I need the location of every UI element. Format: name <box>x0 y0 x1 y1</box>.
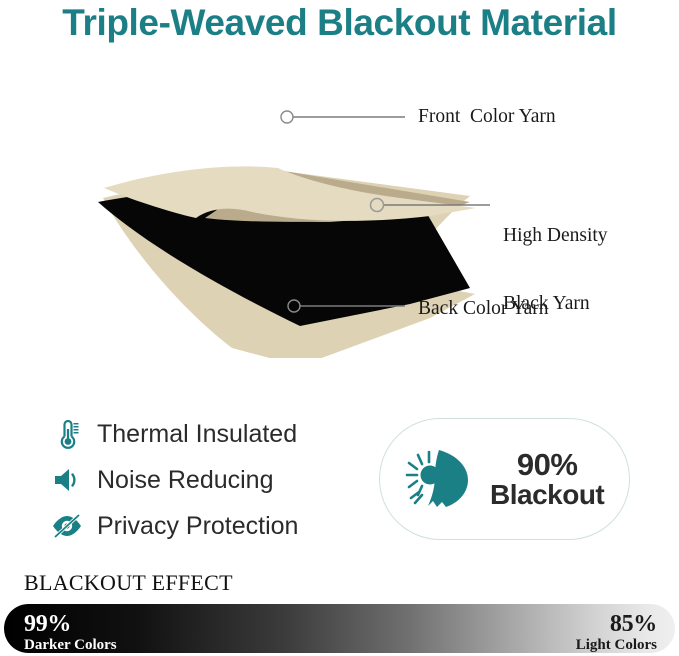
feature-list: Thermal Insulated Noise Reducing Privacy… <box>50 413 360 551</box>
blackout-percent: 90% <box>517 447 578 482</box>
feature-row-privacy: Privacy Protection <box>50 505 360 547</box>
leader-line-front <box>281 111 405 123</box>
label-back-color-yarn: Back Color Yarn <box>418 298 549 321</box>
label-front-color-yarn: Front Color Yarn <box>418 106 556 129</box>
speaker-icon <box>50 463 84 497</box>
blackout-word: Blackout <box>490 479 604 510</box>
feature-row-noise: Noise Reducing <box>50 459 360 501</box>
bar-left-percent: 99% <box>24 612 117 636</box>
eye-off-icon <box>50 509 84 543</box>
sun-behind-curtain-icon <box>402 445 476 513</box>
page-title: Triple-Weaved Blackout Material <box>0 2 679 44</box>
bar-left-block: 99% Darker Colors <box>24 612 117 653</box>
feature-label-thermal: Thermal Insulated <box>97 420 297 449</box>
feature-row-thermal: Thermal Insulated <box>50 413 360 455</box>
thermometer-icon <box>50 417 84 451</box>
bar-right-block: 85% Light Colors <box>576 612 657 653</box>
feature-label-noise: Noise Reducing <box>97 466 274 495</box>
blackout-effect-gradient-bar: 99% Darker Colors 85% Light Colors <box>4 604 675 653</box>
blackout-badge: 90% Blackout <box>379 418 630 540</box>
bar-right-label: Light Colors <box>576 638 657 653</box>
bar-left-label: Darker Colors <box>24 638 117 653</box>
bar-right-percent: 85% <box>576 612 657 636</box>
blackout-text: 90% Blackout <box>490 449 604 509</box>
label-high-density-line1: High Density <box>503 225 608 248</box>
blackout-effect-heading: BLACKOUT EFFECT <box>24 570 233 596</box>
feature-label-privacy: Privacy Protection <box>97 512 298 541</box>
